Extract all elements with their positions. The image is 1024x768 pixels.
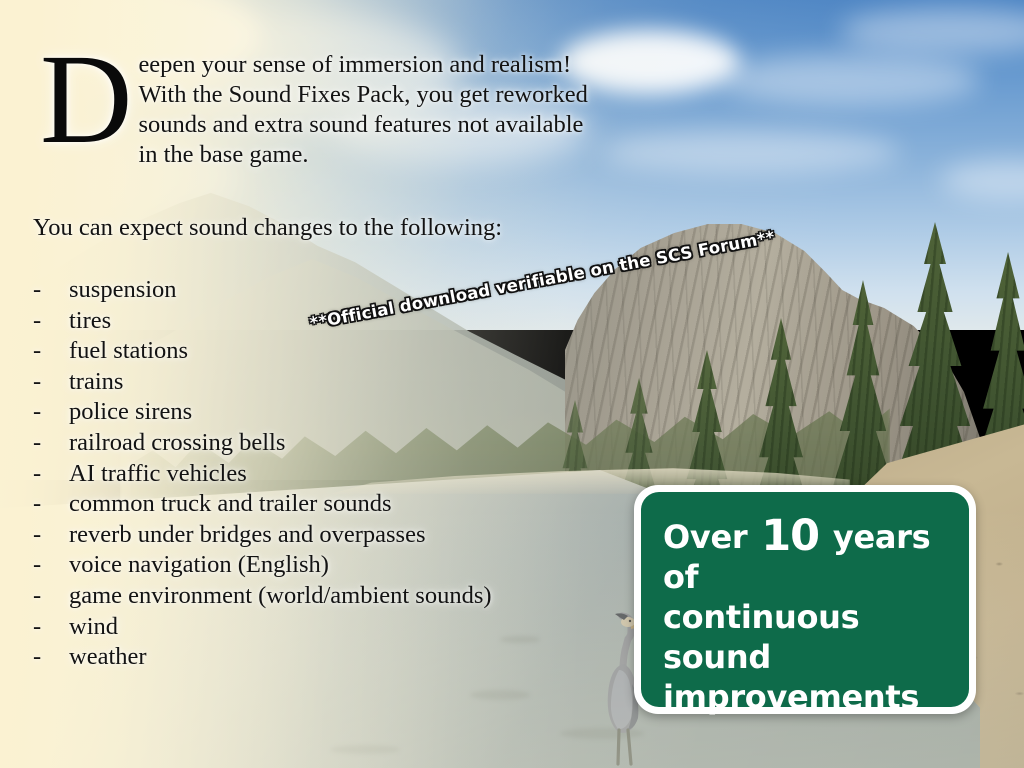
feature-label: trains	[69, 368, 123, 395]
drop-cap-letter: D	[40, 50, 132, 150]
feature-list-item: -police sirens	[33, 397, 492, 428]
list-bullet-dash: -	[33, 306, 69, 337]
feature-label: police sirens	[69, 398, 192, 425]
highway-sign-badge: Over 10 years of continuous sound improv…	[634, 485, 976, 714]
list-bullet-dash: -	[33, 550, 69, 581]
intro-lead-text: eepen your sense of immersion and realis…	[130, 50, 594, 170]
feature-label: railroad crossing bells	[69, 429, 285, 456]
feature-label: game environment (world/ambient sounds)	[69, 582, 492, 609]
feature-list-item: -wind	[33, 612, 492, 643]
list-bullet-dash: -	[33, 275, 69, 306]
list-bullet-dash: -	[33, 367, 69, 398]
list-bullet-dash: -	[33, 581, 69, 612]
feature-list-item: -railroad crossing bells	[33, 428, 492, 459]
feature-label: fuel stations	[69, 337, 188, 364]
feature-label: reverb under bridges and overpasses	[69, 521, 425, 548]
sign-number-years: 10	[758, 511, 822, 561]
feature-label: wind	[69, 613, 118, 640]
list-bullet-dash: -	[33, 428, 69, 459]
list-intro-line: You can expect sound changes to the foll…	[33, 213, 502, 243]
feature-label: weather	[69, 643, 147, 670]
sign-line-4: improvements	[663, 677, 947, 717]
sign-line-1: Over 10 years of	[663, 516, 947, 597]
highway-sign-face: Over 10 years of continuous sound improv…	[641, 492, 969, 707]
list-bullet-dash: -	[33, 397, 69, 428]
list-bullet-dash: -	[33, 612, 69, 643]
sign-text-over: Over	[663, 518, 747, 556]
feature-list-item: -weather	[33, 642, 492, 673]
sign-line-2: continuous	[663, 597, 947, 637]
feature-list-item: -voice navigation (English)	[33, 550, 492, 581]
list-bullet-dash: -	[33, 489, 69, 520]
feature-list-item: -game environment (world/ambient sounds)	[33, 581, 492, 612]
feature-label: common truck and trailer sounds	[69, 490, 392, 517]
feature-list-item: -AI traffic vehicles	[33, 459, 492, 490]
list-bullet-dash: -	[33, 642, 69, 673]
feature-list-item: -fuel stations	[33, 336, 492, 367]
feature-list-item: -reverb under bridges and overpasses	[33, 520, 492, 551]
feature-label: voice navigation (English)	[69, 551, 329, 578]
list-bullet-dash: -	[33, 459, 69, 490]
sign-line-3: sound	[663, 637, 947, 677]
feature-label: tires	[69, 307, 111, 334]
promo-copy-layer: D eepen your sense of immersion and real…	[0, 0, 1024, 768]
intro-paragraph: D eepen your sense of immersion and real…	[34, 50, 594, 170]
feature-list-item: -common truck and trailer sounds	[33, 489, 492, 520]
feature-list-item: -trains	[33, 367, 492, 398]
feature-label: AI traffic vehicles	[69, 460, 247, 487]
list-bullet-dash: -	[33, 336, 69, 367]
promo-banner: D eepen your sense of immersion and real…	[0, 0, 1024, 768]
sound-features-list: -suspension-tires-fuel stations-trains-p…	[33, 275, 492, 673]
list-bullet-dash: -	[33, 520, 69, 551]
feature-label: suspension	[69, 276, 177, 303]
